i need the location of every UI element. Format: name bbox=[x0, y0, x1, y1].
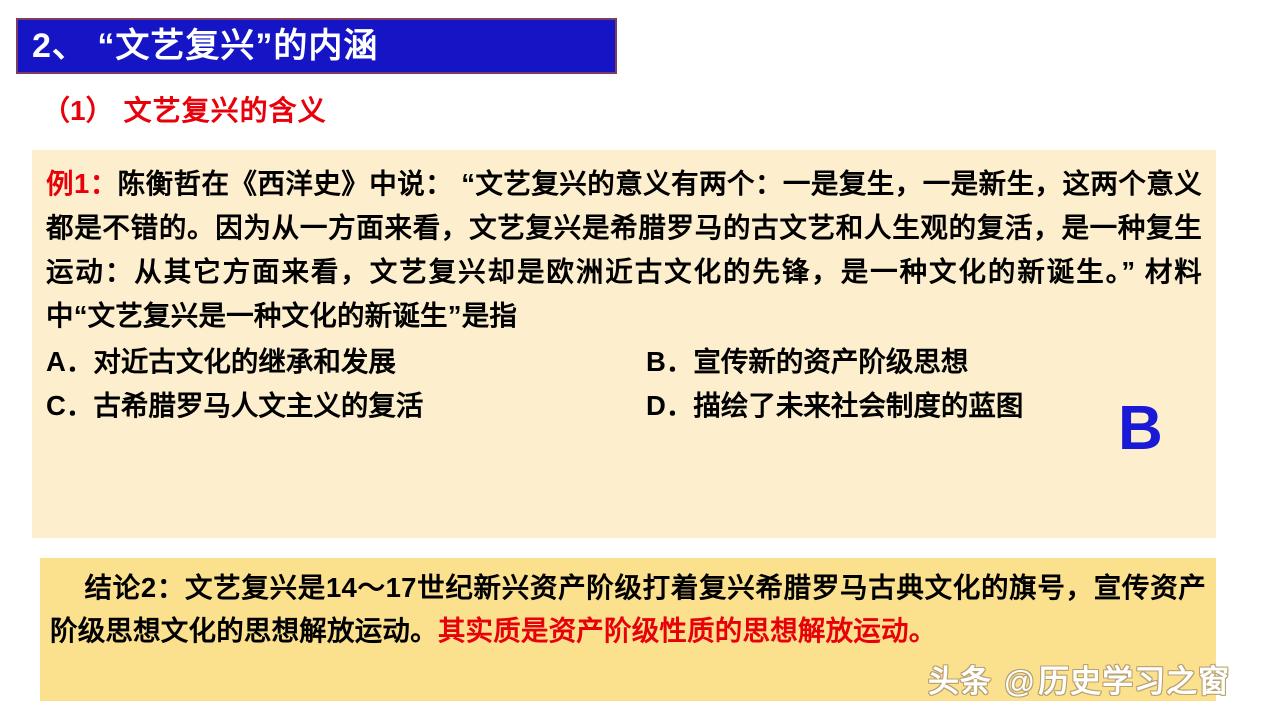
passage-text: 陈衡哲在《西洋史》中说： “文艺复兴的意义有两个：一是复生，一是新生，这两个意义… bbox=[46, 168, 1202, 331]
question-passage: 例1：陈衡哲在《西洋史》中说： “文艺复兴的意义有两个：一是复生，一是新生，这两… bbox=[46, 162, 1202, 338]
watermark-at-icon: @ bbox=[1004, 664, 1036, 699]
example-label: 例1： bbox=[46, 168, 118, 199]
watermark: 头条 @历史学习之窗 bbox=[928, 663, 1230, 700]
slide-title-text: 2、 “文艺复兴”的内涵 bbox=[18, 29, 378, 63]
slide-canvas: 2、 “文艺复兴”的内涵 （1）文艺复兴的含义 例1：陈衡哲在《西洋史》中说： … bbox=[0, 0, 1280, 720]
subheading-number: （1） bbox=[42, 95, 114, 126]
option-A[interactable]: A．对近古文化的继承和发展 bbox=[46, 340, 646, 384]
options-list: A．对近古文化的继承和发展 B．宣传新的资产阶级思想 C．古希腊罗马人文主义的复… bbox=[46, 340, 1202, 428]
option-B[interactable]: B．宣传新的资产阶级思想 bbox=[646, 340, 968, 384]
options-row-1: A．对近古文化的继承和发展 B．宣传新的资产阶级思想 bbox=[46, 340, 1202, 384]
option-D-key: D． bbox=[646, 390, 693, 421]
option-C[interactable]: C．古希腊罗马人文主义的复活 bbox=[46, 384, 646, 428]
answer-marker: B bbox=[1118, 398, 1163, 460]
option-B-text: 宣传新的资产阶级思想 bbox=[693, 346, 968, 377]
option-B-key: B． bbox=[646, 346, 693, 377]
subheading-label: 文艺复兴的含义 bbox=[124, 95, 327, 126]
watermark-name: 历史学习之窗 bbox=[1038, 664, 1230, 699]
conclusion-text: 结论2：文艺复兴是14～17世纪新兴资产阶级打着复兴希腊罗马古典文化的旗号，宣传… bbox=[50, 566, 1206, 652]
subheading: （1）文艺复兴的含义 bbox=[42, 96, 327, 127]
option-D[interactable]: D．描绘了未来社会制度的蓝图 bbox=[646, 384, 1023, 428]
option-A-text: 对近古文化的继承和发展 bbox=[93, 346, 396, 377]
option-A-key: A． bbox=[46, 346, 93, 377]
option-C-key: C． bbox=[46, 390, 93, 421]
slide-title-bar: 2、 “文艺复兴”的内涵 bbox=[16, 18, 617, 74]
conclusion-highlight: 其实质是资产阶级性质的思想解放运动。 bbox=[438, 615, 937, 646]
watermark-prefix: 头条 bbox=[928, 664, 992, 699]
question-card: 例1：陈衡哲在《西洋史》中说： “文艺复兴的意义有两个：一是复生，一是新生，这两… bbox=[32, 150, 1216, 538]
option-C-text: 古希腊罗马人文主义的复活 bbox=[93, 390, 423, 421]
option-D-text: 描绘了未来社会制度的蓝图 bbox=[693, 390, 1023, 421]
options-row-2: C．古希腊罗马人文主义的复活 D．描绘了未来社会制度的蓝图 bbox=[46, 384, 1202, 428]
